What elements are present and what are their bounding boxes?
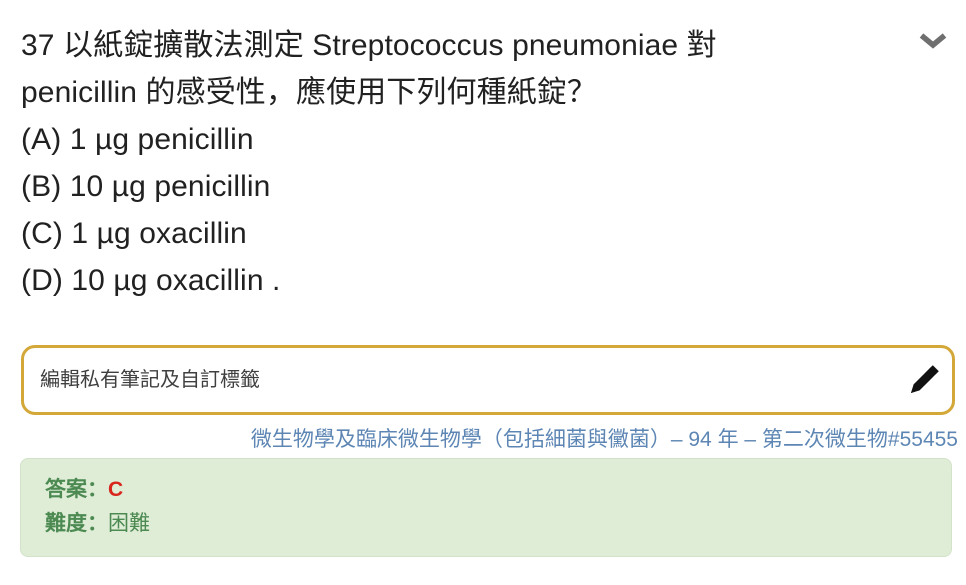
difficulty-label: 難度： [45,512,108,535]
option-list: (A) 1 µg penicillin (B) 10 µg penicillin… [21,116,906,304]
collapse-toggle-button[interactable] [914,26,952,56]
option-a[interactable]: (A) 1 µg penicillin [21,116,906,163]
answer-row: 答案：C [45,473,951,507]
difficulty-row: 難度：困難 [45,507,951,541]
answer-value: C [108,478,123,501]
private-note-placeholder[interactable]: 編輯私有筆記及自訂標籤 [24,367,896,393]
question-body: 37 以紙錠擴散法測定 Streptococcus pneumoniae 對 p… [0,0,966,304]
pencil-edit-button[interactable] [896,352,952,408]
difficulty-value: 困難 [108,512,150,535]
private-note-input[interactable]: 編輯私有筆記及自訂標籤 [21,345,955,415]
answer-panel: 答案：C 難度：困難 [20,458,952,557]
option-b[interactable]: (B) 10 µg penicillin [21,163,906,210]
question-stem-line-2: penicillin 的感受性，應使用下列何種紙錠？ [21,69,906,116]
answer-label: 答案： [45,478,108,501]
source-exam-link[interactable]: 微生物學及臨床微生物學（包括細菌與黴菌）– 94 年 – 第二次微生物#5545… [8,425,958,455]
chevron-down-icon [919,32,947,50]
question-stem-line-1: 37 以紙錠擴散法測定 Streptococcus pneumoniae 對 [21,22,906,69]
option-c[interactable]: (C) 1 µg oxacillin [21,210,906,257]
option-d[interactable]: (D) 10 µg oxacillin . [21,257,906,304]
pencil-icon [904,360,944,400]
question-card: 37 以紙錠擴散法測定 Streptococcus pneumoniae 對 p… [0,0,966,304]
